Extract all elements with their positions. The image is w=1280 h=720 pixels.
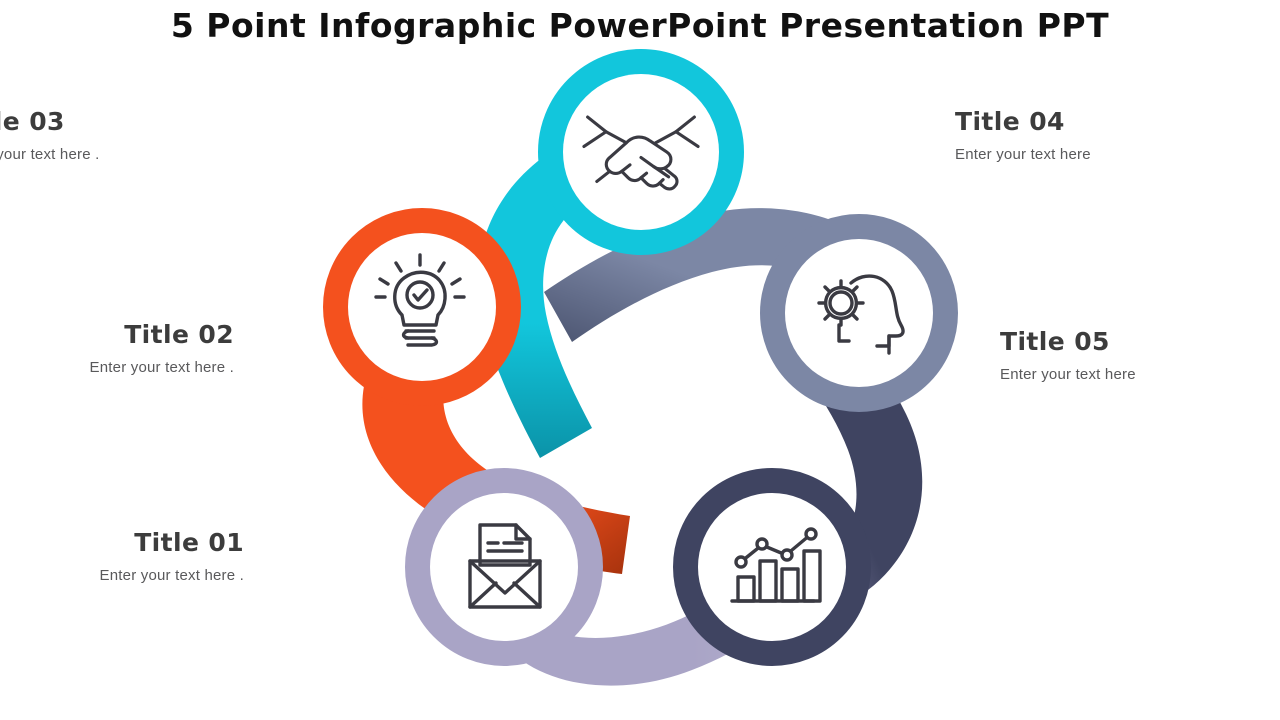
label-title-05: Title 05 xyxy=(1000,328,1280,356)
label-subtitle-05: Enter your text here xyxy=(1000,366,1280,384)
label-subtitle-03: Enter your text here . xyxy=(0,146,285,164)
label-subtitle-01: Enter your text here . xyxy=(0,567,244,585)
label-subtitle-04: Enter your text here xyxy=(955,146,1280,164)
label-title-04: Title 04 xyxy=(955,108,1280,136)
label-title-03: Title 03 xyxy=(0,108,285,136)
disc-01 xyxy=(430,493,578,641)
disc-04 xyxy=(785,239,933,387)
label-block-title-04[interactable]: Title 04 Enter your text here xyxy=(955,108,1280,164)
disc-05 xyxy=(698,493,846,641)
label-block-title-05[interactable]: Title 05 Enter your text here xyxy=(1000,328,1280,384)
label-block-title-01[interactable]: Title 01 Enter your text here . xyxy=(0,529,244,585)
disc-03 xyxy=(563,74,719,230)
five-point-ribbon-diagram xyxy=(300,30,980,690)
label-subtitle-02: Enter your text here . xyxy=(0,359,234,377)
node-circle-03[interactable] xyxy=(551,62,731,242)
label-title-02: Title 02 xyxy=(0,321,234,349)
node-circle-05[interactable] xyxy=(686,481,858,653)
node-circle-01[interactable] xyxy=(418,481,590,653)
slide-canvas: 5 Point Infographic PowerPoint Presentat… xyxy=(0,0,1280,720)
label-title-01: Title 01 xyxy=(0,529,244,557)
label-block-title-02[interactable]: Title 02 Enter your text here . xyxy=(0,321,234,377)
node-circle-02[interactable] xyxy=(336,221,508,393)
node-circle-04[interactable] xyxy=(773,227,945,399)
label-block-title-03[interactable]: Title 03 Enter your text here . xyxy=(0,108,285,164)
